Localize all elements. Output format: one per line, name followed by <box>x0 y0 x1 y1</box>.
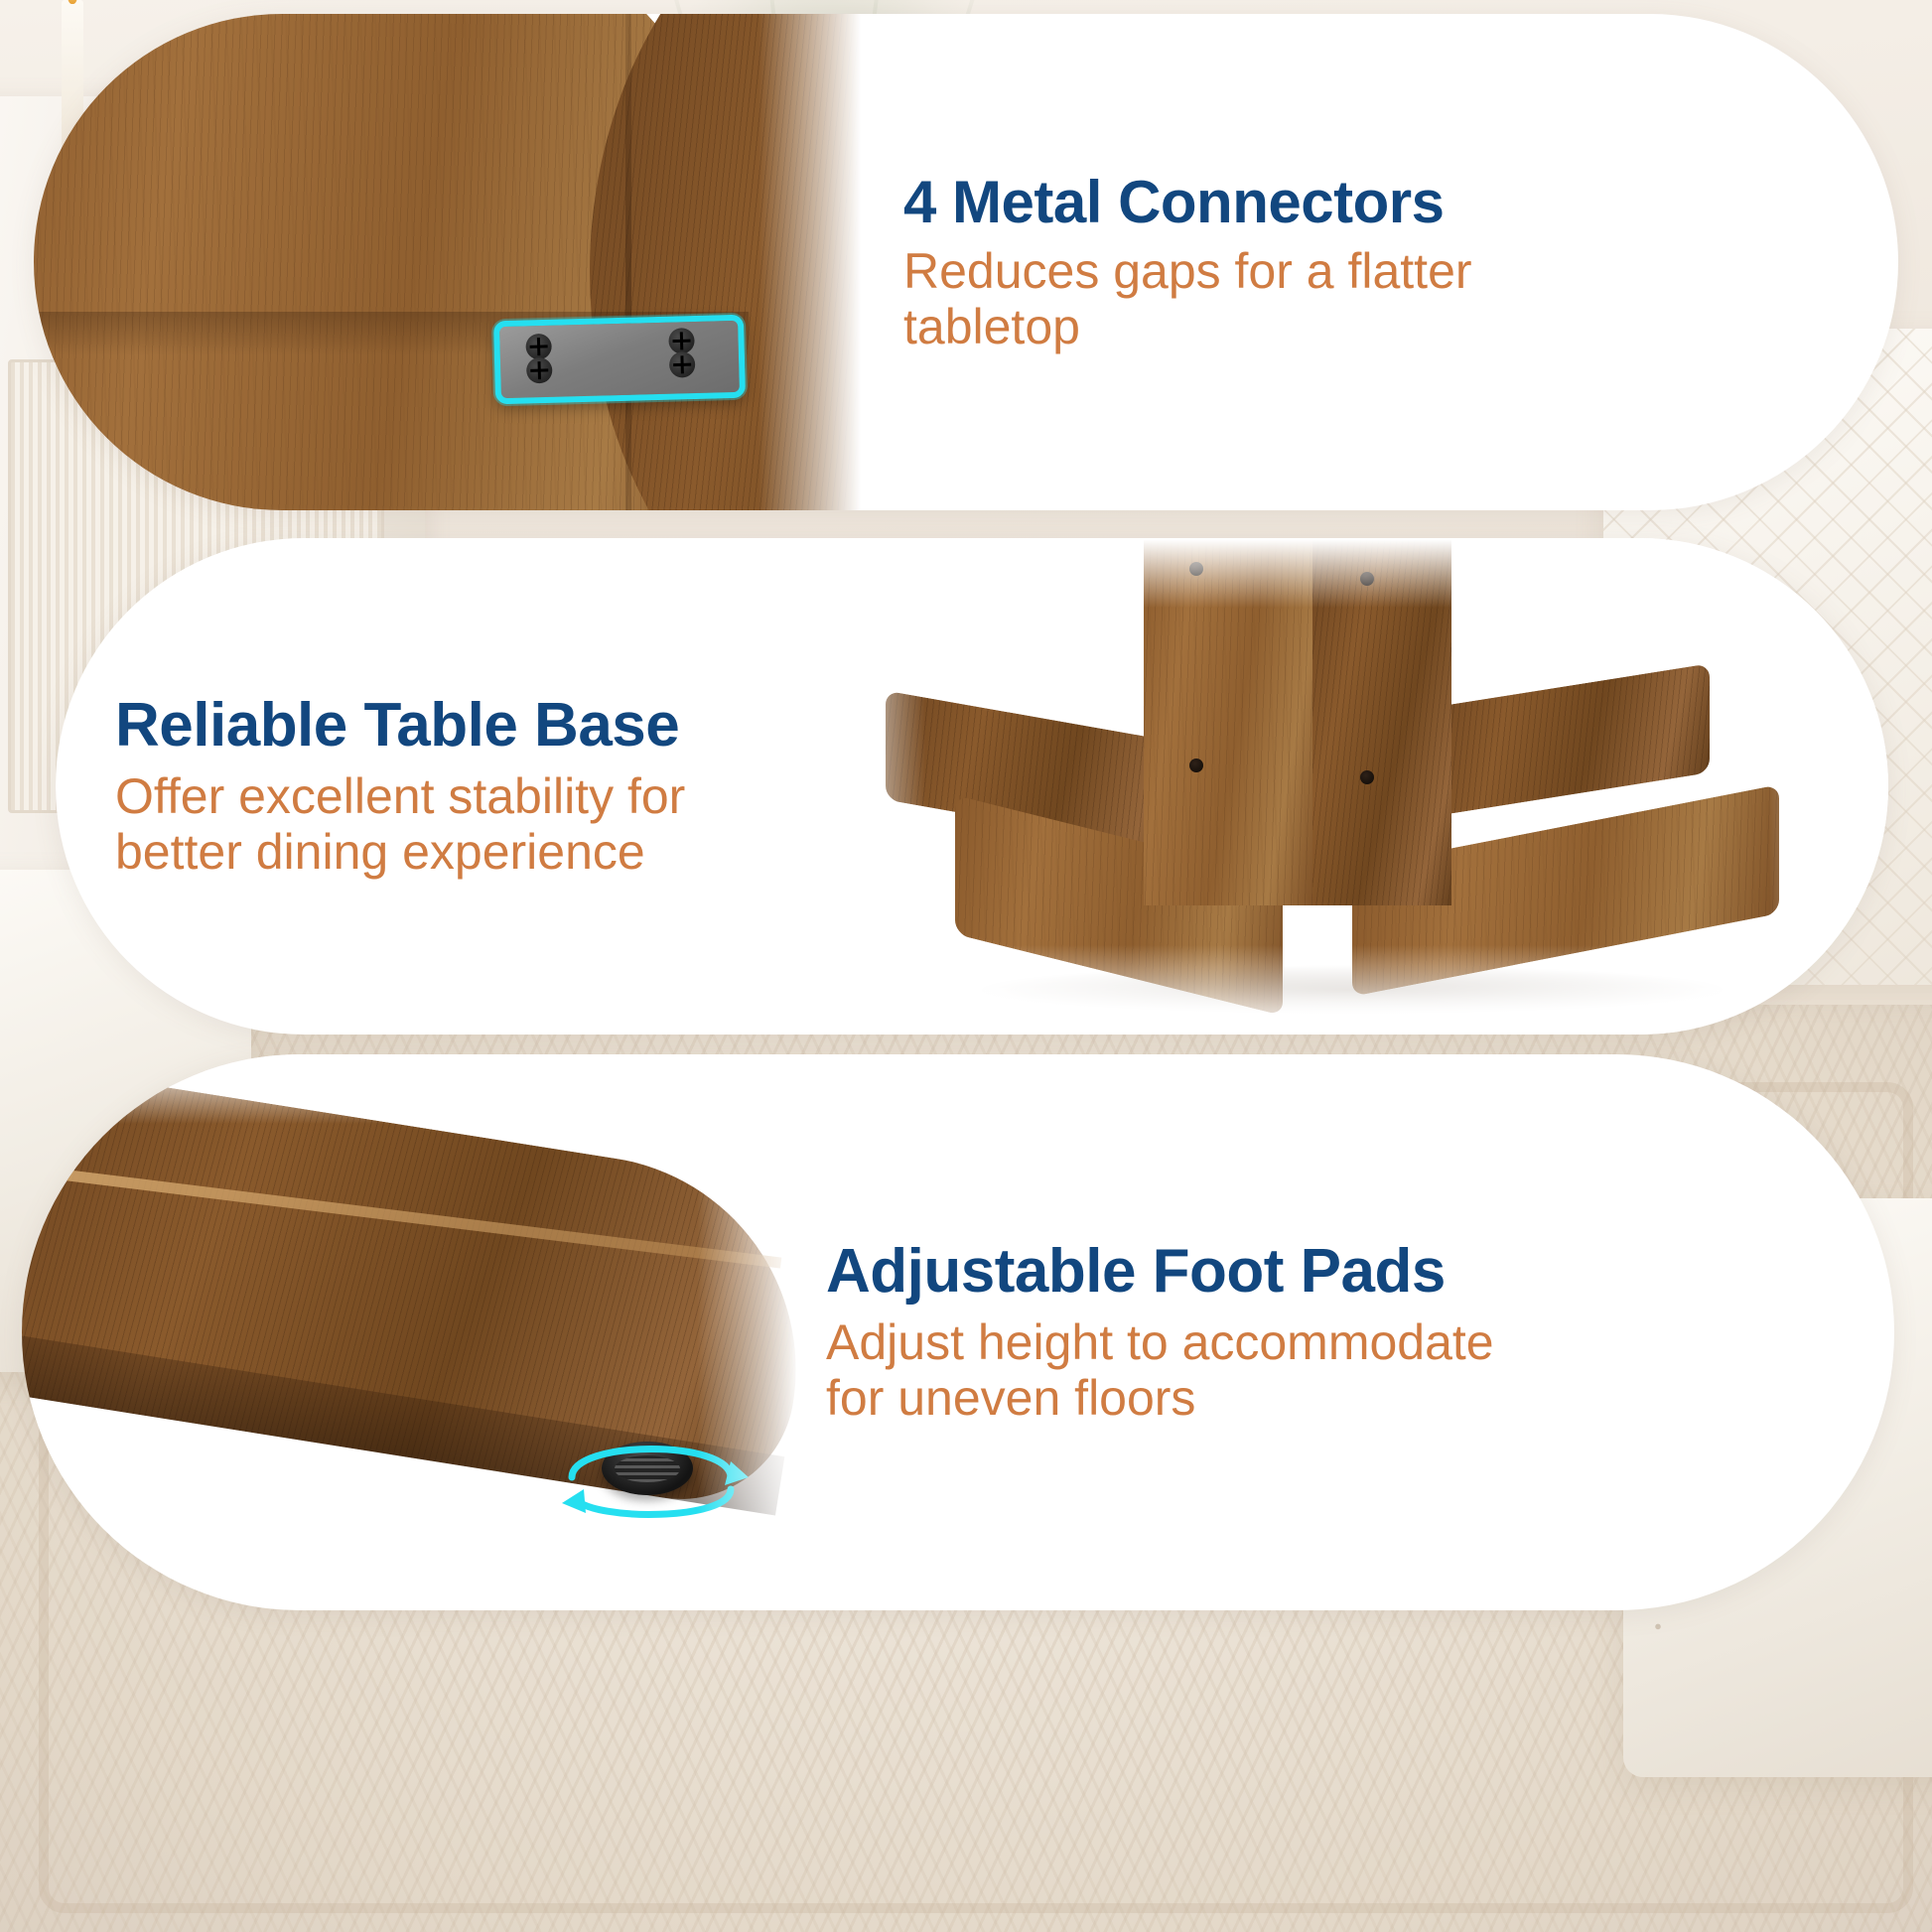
copy-foot-pads: Adjustable Foot Pads Adjust height to ac… <box>816 1239 1894 1425</box>
panel-subline-line-1: Adjust height to accommodate <box>826 1314 1494 1370</box>
photo-fade-top <box>816 538 1888 608</box>
panel-subline-line-2: better dining experience <box>115 824 645 880</box>
base-leg-back-right <box>1412 663 1710 820</box>
bolt-icon <box>1360 770 1374 784</box>
photo-table-base <box>816 538 1888 1035</box>
panel-subline-line-2: for uneven floors <box>826 1370 1195 1426</box>
screw-icon <box>668 328 695 354</box>
feature-panel-metal-connectors: 4 Metal Connectors Reduces gaps for a fl… <box>34 14 1898 510</box>
panel-headline: Reliable Table Base <box>115 693 816 758</box>
photo-fade-bottom <box>816 945 1888 1035</box>
panel-subline: Reduces gaps for a flatter tabletop <box>903 243 1898 354</box>
panel-headline: Adjustable Foot Pads <box>826 1239 1894 1304</box>
panel-subline: Offer excellent stability for better din… <box>115 768 816 880</box>
foot-pad-ridges <box>615 1455 680 1482</box>
bolt-icon <box>1189 759 1203 772</box>
feature-panel-table-base: Reliable Table Base Offer excellent stab… <box>56 538 1888 1035</box>
panel-subline-line-1: Offer excellent stability for <box>115 768 685 824</box>
panel-subline: Adjust height to accommodate for uneven … <box>826 1314 1894 1426</box>
tabletop-seam <box>625 14 631 510</box>
panel-headline: 4 Metal Connectors <box>903 171 1898 233</box>
leg-groove <box>22 1163 781 1268</box>
metal-connector-plate <box>493 315 746 405</box>
photo-fade-top <box>22 1054 816 1124</box>
copy-table-base: Reliable Table Base Offer excellent stab… <box>56 693 816 879</box>
panel-subline-line-1: Reduces gaps for a flatter <box>903 243 1472 299</box>
adjustable-foot-pad <box>602 1442 693 1495</box>
photo-fade-right <box>759 14 878 510</box>
screw-icon <box>526 357 553 384</box>
copy-metal-connectors: 4 Metal Connectors Reduces gaps for a fl… <box>878 171 1898 354</box>
photo-fade-right <box>697 1054 816 1610</box>
photo-foot-pads <box>22 1054 816 1610</box>
screw-icon <box>669 351 696 378</box>
panel-subline-line-2: tabletop <box>903 299 1080 354</box>
photo-metal-connectors <box>34 14 878 510</box>
feature-panel-foot-pads: Adjustable Foot Pads Adjust height to ac… <box>22 1054 1894 1610</box>
screw-icon <box>525 334 552 360</box>
